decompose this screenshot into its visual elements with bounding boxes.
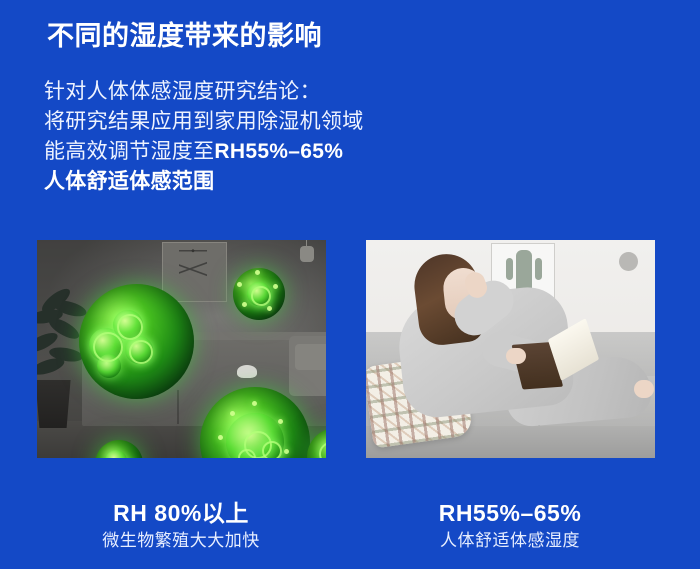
poster-root: 不同的湿度带来的影响 针对人体体感湿度研究结论： 将研究结果应用到家用除湿机领域… xyxy=(0,0,700,569)
photo-panel-comfort-humidity xyxy=(366,240,655,458)
humidity-range-highlight: RH55%–65% xyxy=(214,140,343,163)
caption-title: RH 80%以上 xyxy=(31,498,331,528)
sofa-object xyxy=(237,365,257,378)
sofa-seam xyxy=(177,390,179,424)
subtitle-paragraph: 针对人体体感湿度研究结论： 将研究结果应用到家用除湿机领域 能高效调节湿度至RH… xyxy=(44,77,564,197)
woman-foot xyxy=(634,380,654,398)
caption-high-humidity: RH 80%以上 微生物繁殖大大加快 xyxy=(31,498,331,554)
wall-speaker xyxy=(300,246,314,262)
subtitle-line-3: 能高效调节湿度至RH55%–65% xyxy=(44,137,564,167)
subtitle-line-1: 针对人体体感湿度研究结论： xyxy=(44,77,564,107)
sofa-cushion xyxy=(295,344,326,370)
photo-panel-high-humidity xyxy=(37,240,326,458)
wall-art-frame xyxy=(162,242,227,302)
page-title: 不同的湿度带来的影响 xyxy=(47,18,322,54)
woman-hand-holding-book xyxy=(506,348,526,364)
caption-subtitle: 微生物繁殖大大加快 xyxy=(31,528,331,554)
wall-speaker xyxy=(619,252,638,271)
bright-room-scene xyxy=(366,240,655,458)
subtitle-line-2: 将研究结果应用到家用除湿机领域 xyxy=(44,107,564,137)
subtitle-line-3-prefix: 能高效调节湿度至 xyxy=(44,140,214,163)
caption-comfort-humidity: RH55%–65% 人体舒适体感湿度 xyxy=(360,498,660,554)
microbe-sphere-small xyxy=(233,268,285,320)
caption-subtitle: 人体舒适体感湿度 xyxy=(360,528,660,554)
subtitle-line-4: 人体舒适体感范围 xyxy=(44,167,564,197)
caption-title: RH55%–65% xyxy=(360,498,660,528)
dim-room-scene xyxy=(37,240,326,458)
microbe-cluster-large xyxy=(79,284,194,399)
